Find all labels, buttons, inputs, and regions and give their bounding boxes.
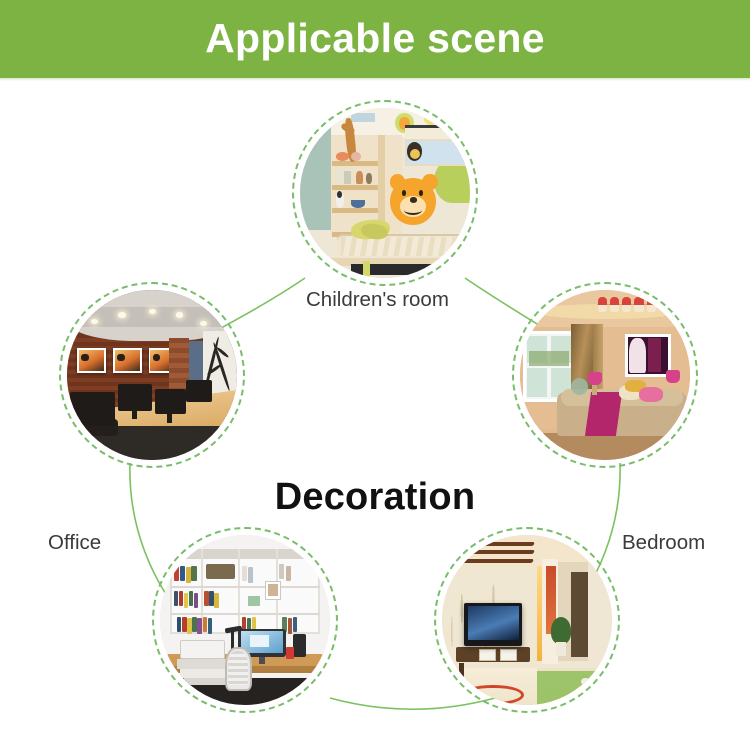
office-photo bbox=[67, 290, 237, 460]
node-bedroom[interactable] bbox=[512, 282, 698, 468]
study-photo bbox=[160, 535, 330, 705]
node-label-children-room: Children's room bbox=[306, 290, 449, 311]
bedroom-photo bbox=[520, 290, 690, 460]
node-study[interactable] bbox=[152, 527, 338, 713]
page-title: Applicable scene bbox=[205, 18, 545, 59]
diagram-center-title: Decoration bbox=[0, 478, 750, 516]
children-room-photo bbox=[300, 108, 470, 278]
node-children-room[interactable] bbox=[292, 100, 478, 286]
node-label-office: Office bbox=[48, 533, 101, 554]
living-room-photo bbox=[442, 535, 612, 705]
header-bar: Applicable scene bbox=[0, 0, 750, 78]
node-label-bedroom: Bedroom bbox=[622, 533, 705, 554]
node-office[interactable] bbox=[59, 282, 245, 468]
node-living-room[interactable] bbox=[434, 527, 620, 713]
applicable-scene-poster: Applicable scene bbox=[0, 0, 750, 750]
diagram-stage: Children's room bbox=[0, 78, 750, 750]
